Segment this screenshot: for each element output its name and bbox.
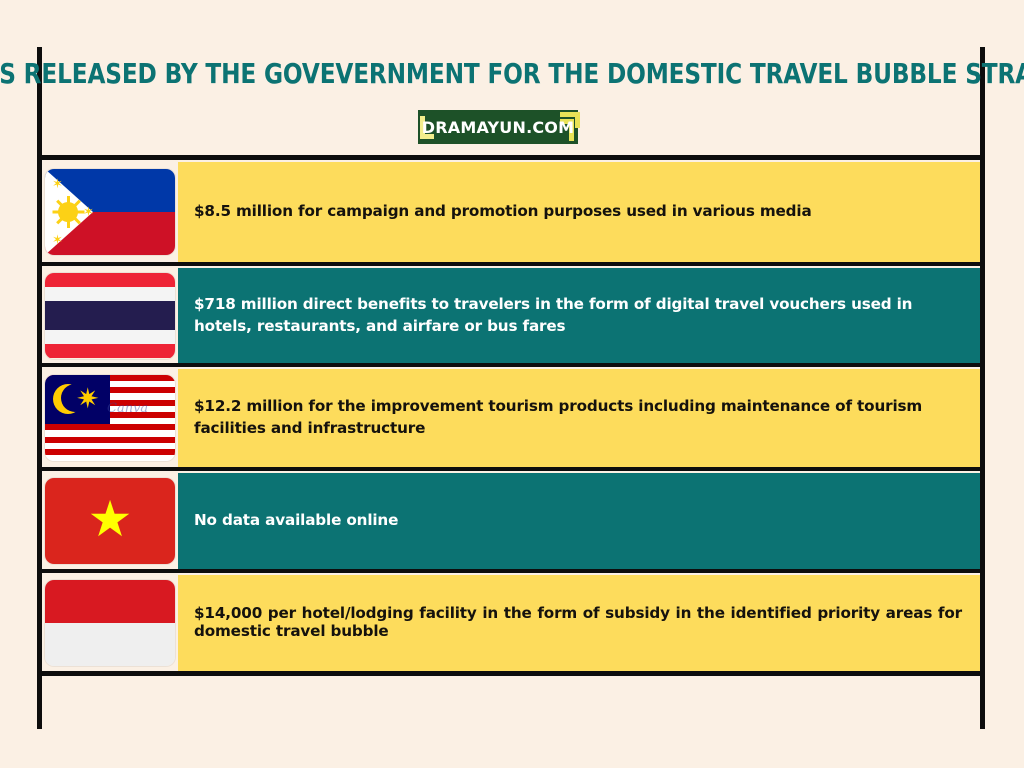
flag-cell [42, 575, 178, 671]
vn-star-icon: ★ [88, 494, 133, 544]
table-row: ✶ ✶ ✶ $8.5 million for campaign and prom… [42, 162, 980, 262]
row-text: No data available online [194, 510, 398, 532]
thailand-flag-icon [45, 273, 175, 359]
row-text-cell: $14,000 per hotel/lodging facility in th… [178, 575, 980, 671]
id-white-band [45, 623, 175, 666]
table-row: $718 million direct benefits to traveler… [42, 268, 980, 363]
row-separator [42, 569, 980, 573]
flag-cell [42, 268, 178, 363]
row-text: $718 million direct benefits to traveler… [194, 294, 962, 337]
table-row: ★ No data available online [42, 473, 980, 569]
ph-star-icon: ✶ [52, 177, 63, 190]
row-text: $12.2 million for the improvement touris… [194, 396, 962, 439]
row-text: $8.5 million for campaign and promotion … [194, 201, 812, 223]
vietnam-flag-icon: ★ [45, 478, 175, 564]
indonesia-flag-icon [45, 580, 175, 666]
frame-line-top [37, 155, 985, 160]
canva-watermark: Canva [107, 401, 148, 416]
my-stripe [45, 424, 175, 430]
row-separator [42, 467, 980, 471]
table-row: ✷ Canva $12.2 million for the improvemen… [42, 369, 980, 467]
id-red-band [45, 580, 175, 623]
frame-line-bottom [37, 671, 985, 676]
flag-cell: ★ [42, 473, 178, 569]
row-separator [42, 262, 980, 266]
my-star-icon: ✷ [76, 385, 99, 413]
flag-cell: ✶ ✶ ✶ [42, 162, 178, 262]
row-separator [42, 363, 980, 367]
philippines-flag-icon: ✶ ✶ ✶ [45, 169, 175, 255]
row-text-cell: $12.2 million for the improvement touris… [178, 369, 980, 467]
page-title: FUNDS RELEASED BY THE GOVEVERNMENT FOR T… [117, 52, 908, 96]
th-stripe-red-top [45, 273, 175, 287]
ph-star-icon: ✶ [83, 205, 94, 218]
ph-sun-icon [58, 202, 78, 222]
table-row: $14,000 per hotel/lodging facility in th… [42, 575, 980, 671]
th-stripe-white-top [45, 287, 175, 301]
flag-cell: ✷ Canva [42, 369, 178, 467]
logo-text: DRAMAYUN.COM [414, 110, 582, 144]
frame-line-right [980, 47, 985, 729]
row-text-cell: $718 million direct benefits to traveler… [178, 268, 980, 363]
site-logo[interactable]: DRAMAYUN.COM [414, 110, 582, 144]
th-stripe-white-bottom [45, 330, 175, 344]
row-text-cell: $8.5 million for campaign and promotion … [178, 162, 980, 262]
th-stripe-navy [45, 301, 175, 330]
infographic-canvas: FUNDS RELEASED BY THE GOVEVERNMENT FOR T… [0, 0, 1024, 768]
my-stripe [45, 437, 175, 443]
row-text-cell: No data available online [178, 473, 980, 569]
ph-star-icon: ✶ [52, 233, 63, 246]
my-stripe [45, 449, 175, 455]
th-stripe-red-bottom [45, 344, 175, 358]
row-text: $14,000 per hotel/lodging facility in th… [194, 605, 962, 641]
malaysia-flag-icon: ✷ Canva [45, 375, 175, 461]
